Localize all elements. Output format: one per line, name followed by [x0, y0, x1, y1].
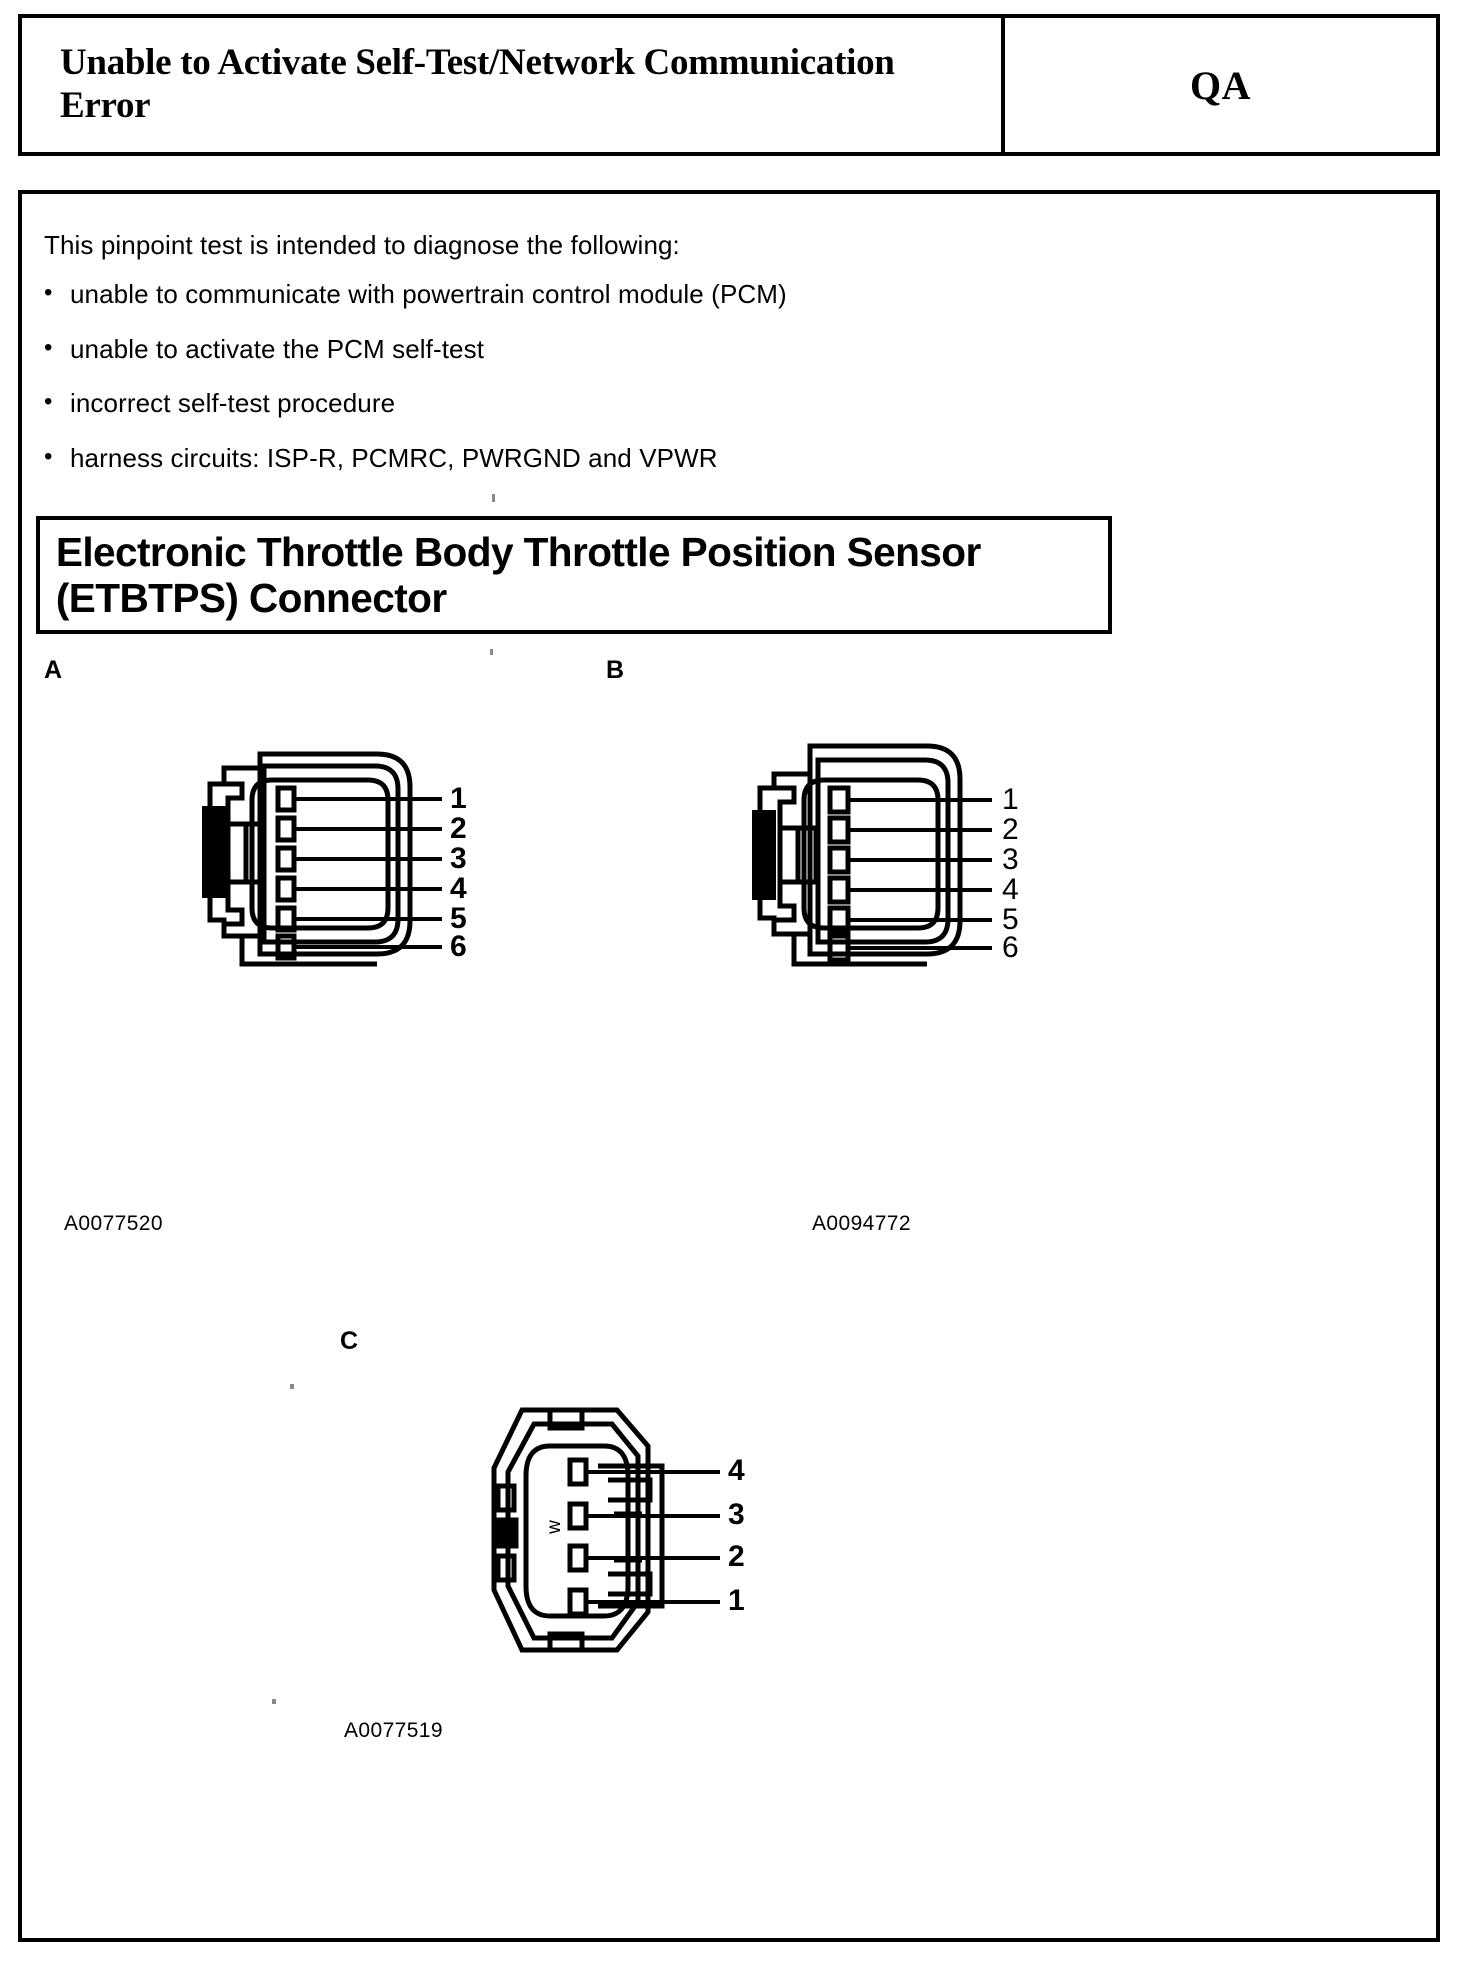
bullet-icon: • — [44, 278, 70, 308]
pin-number: 2 — [728, 1540, 745, 1574]
figure-caption-c: A0077519 — [344, 1719, 443, 1743]
diagnose-list: • unable to communicate with powertrain … — [44, 278, 1244, 496]
list-item-label: harness circuits: ISP-R, PCMRC, PWRGND a… — [70, 442, 718, 475]
figure-label-c: C — [340, 1327, 358, 1356]
header-code-cell: QA — [1005, 18, 1436, 152]
figure-caption-b: A0094772 — [812, 1212, 911, 1236]
pin-number: 1 — [450, 782, 467, 816]
pin-number: 1 — [1002, 783, 1019, 817]
pin-number: 6 — [1002, 931, 1019, 965]
intro-text: This pinpoint test is intended to diagno… — [44, 230, 680, 261]
figure-label-a: A — [44, 656, 62, 685]
connector-diagram-c: w 4 3 2 1 — [452, 1394, 782, 1669]
figure-label-b: B — [606, 656, 624, 685]
bullet-icon: • — [44, 387, 70, 417]
content-box: This pinpoint test is intended to diagno… — [18, 190, 1440, 1942]
pin-number: 4 — [450, 872, 467, 906]
keyway-mark: w — [544, 1520, 566, 1534]
section-heading: Electronic Throttle Body Throttle Positi… — [40, 529, 1097, 622]
list-item-label: incorrect self-test procedure — [70, 387, 395, 420]
page-header-table: Unable to Activate Self-Test/Network Com… — [18, 14, 1440, 156]
figure-caption-a: A0077520 — [64, 1212, 163, 1236]
list-item: • unable to activate the PCM self-test — [44, 333, 1244, 366]
pin-number: 3 — [1002, 843, 1019, 877]
bullet-icon: • — [44, 333, 70, 363]
section-heading-box: Electronic Throttle Body Throttle Positi… — [36, 516, 1112, 634]
scan-artifact — [290, 1384, 294, 1389]
pin-number: 4 — [1002, 873, 1019, 907]
connector-diagram-a: 1 2 3 4 5 6 — [172, 724, 502, 984]
scan-artifact — [490, 649, 493, 655]
bullet-icon: • — [44, 442, 70, 472]
pin-number: 2 — [450, 812, 467, 846]
list-item: • incorrect self-test procedure — [44, 387, 1244, 420]
pin-number: 2 — [1002, 813, 1019, 847]
pin-number: 3 — [728, 1498, 745, 1532]
scan-artifact — [272, 1699, 276, 1704]
page-title: Unable to Activate Self-Test/Network Com… — [60, 42, 991, 128]
list-item-label: unable to communicate with powertrain co… — [70, 278, 787, 311]
pin-number: 1 — [728, 1584, 745, 1618]
pin-number: 6 — [450, 930, 467, 964]
test-code-label: QA — [1190, 62, 1251, 109]
pin-number: 3 — [450, 842, 467, 876]
pin-number: 4 — [728, 1454, 745, 1488]
list-item: • unable to communicate with powertrain … — [44, 278, 1244, 311]
list-item-label: unable to activate the PCM self-test — [70, 333, 484, 366]
list-item: • harness circuits: ISP-R, PCMRC, PWRGND… — [44, 442, 1244, 475]
connector-diagram-b: 1 2 3 4 5 6 — [722, 724, 1052, 984]
scan-artifact — [492, 494, 495, 502]
header-title-cell: Unable to Activate Self-Test/Network Com… — [22, 18, 1005, 152]
